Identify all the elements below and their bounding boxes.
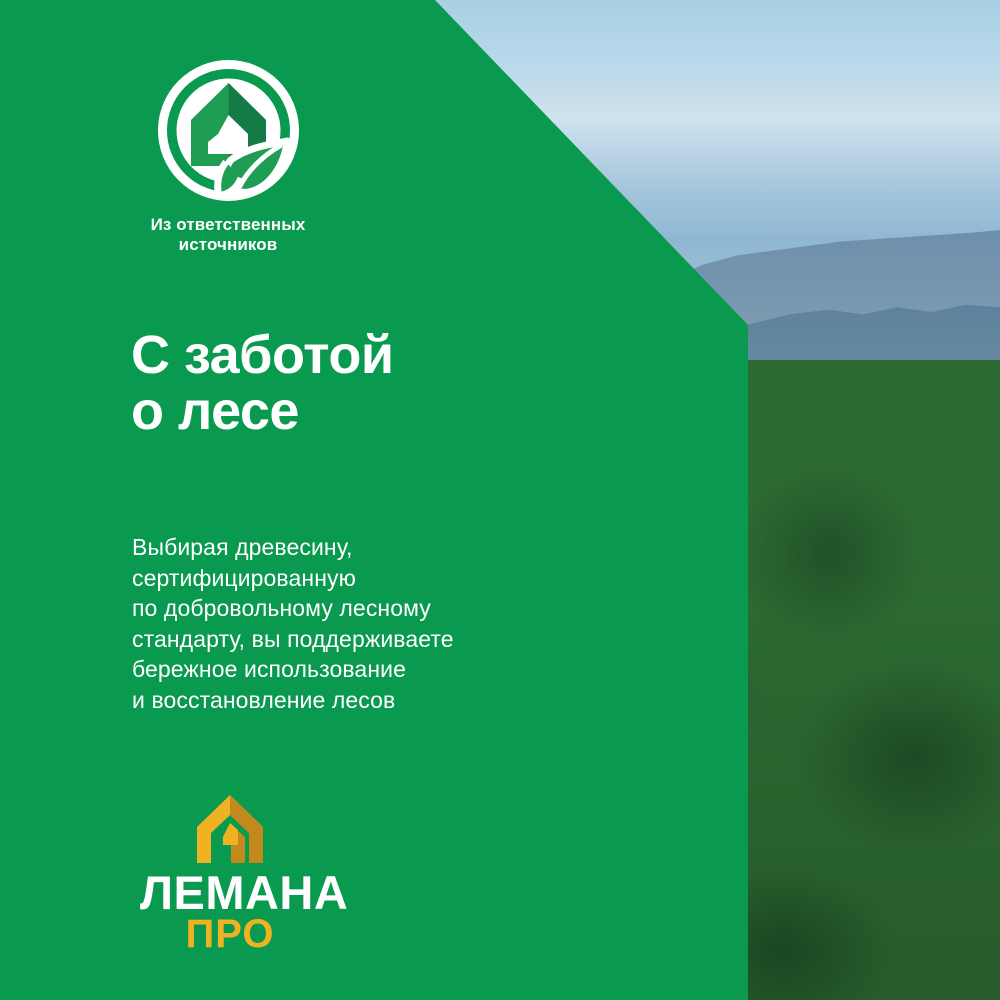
brand-logo: ЛЕМАНА ПРО [140,793,320,953]
brand-wordmark: ЛЕМАНА ПРО [140,871,320,953]
promo-poster: Из ответственных источников С заботой о … [0,0,1000,1000]
certification-caption-line2: источников [128,235,328,255]
certification-logo: Из ответственных источников [128,58,348,255]
body-copy: Выбирая древесину, сертифицированную по … [132,532,454,715]
headline: С заботой о лесе [131,327,394,439]
responsible-sources-icon [156,58,301,203]
brand-name: ЛЕМАНА [140,871,320,914]
certification-caption: Из ответственных источников [128,215,328,255]
certification-caption-line1: Из ответственных [128,215,328,235]
brand-sub: ПРО [140,916,320,953]
lemana-house-icon [195,793,265,865]
